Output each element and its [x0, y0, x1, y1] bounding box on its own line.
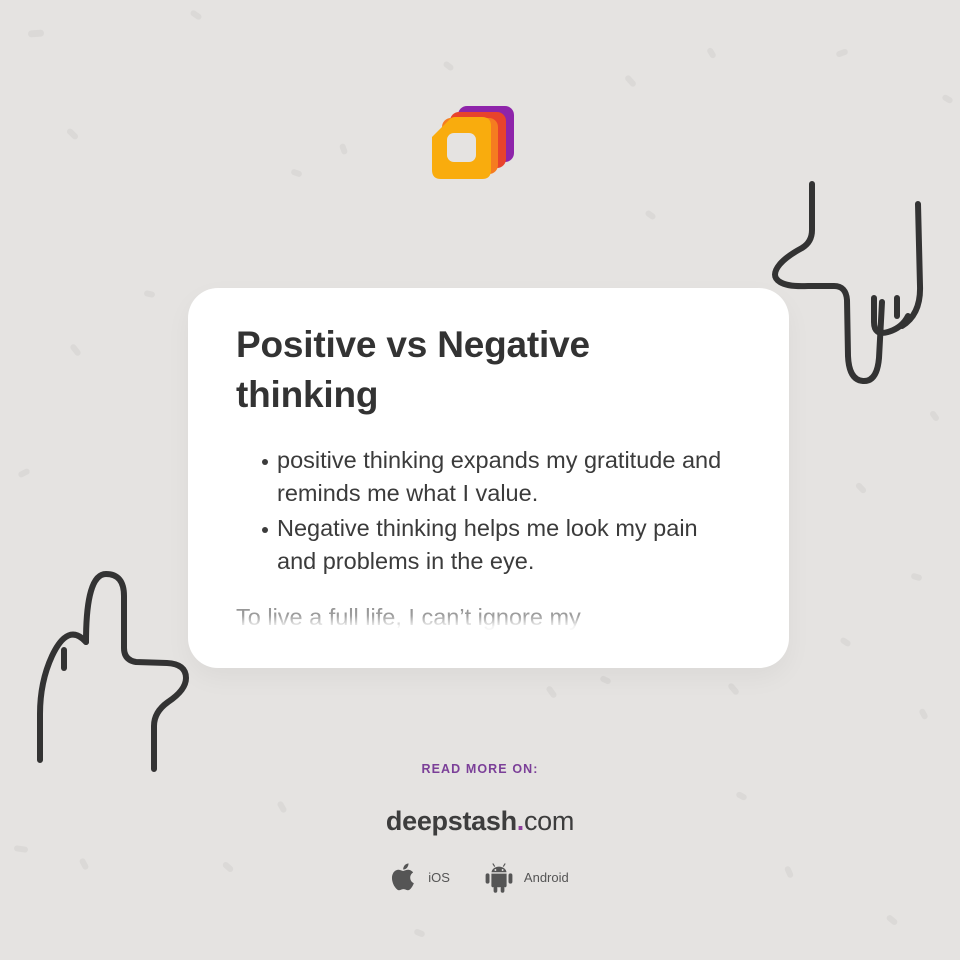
confetti-dash: [835, 48, 848, 58]
ios-store-badge[interactable]: iOS: [391, 861, 450, 893]
android-store-badge[interactable]: Android: [483, 861, 569, 893]
store-badges: iOS: [0, 861, 960, 893]
teaser-text: To live a full life, I can’t ignore my: [236, 601, 743, 634]
list-item: positive thinking expands my gratitude a…: [236, 444, 743, 510]
confetti-dash: [918, 708, 928, 721]
confetti-dash: [885, 914, 898, 926]
confetti-dash: [839, 636, 851, 647]
teaser-line-1: To live a full life, I can’t ignore my: [236, 604, 581, 630]
android-icon: [483, 861, 515, 893]
brand-tld: com: [524, 806, 574, 836]
confetti-dash: [413, 928, 425, 938]
brand-dot: .: [517, 806, 524, 836]
confetti-dash: [69, 343, 82, 357]
ios-label: iOS: [428, 870, 450, 885]
confetti-dash: [599, 675, 612, 685]
confetti-dash: [545, 685, 557, 699]
confetti-dash: [727, 682, 740, 696]
confetti-dash: [189, 9, 202, 21]
brand-name: deepstash: [386, 806, 517, 836]
confetti-dash: [855, 482, 868, 495]
deepstash-share-card: Positive vs Negative thinking positive t…: [0, 0, 960, 960]
confetti-dash: [17, 468, 30, 479]
brand-wordmark[interactable]: deepstash.com: [0, 806, 960, 837]
confetti-dash: [28, 29, 44, 37]
confetti-dash: [339, 143, 348, 155]
confetti-dash: [706, 47, 717, 60]
list-item: Negative thinking helps me look my pain …: [236, 512, 743, 578]
confetti-dash: [442, 60, 454, 72]
confetti-dash: [624, 74, 637, 88]
idea-card: Positive vs Negative thinking positive t…: [188, 288, 789, 668]
confetti-dash: [929, 410, 940, 422]
confetti-dash: [644, 209, 656, 220]
confetti-dash: [66, 127, 80, 140]
read-more-label: READ MORE ON:: [0, 762, 960, 776]
android-label: Android: [524, 870, 569, 885]
confetti-dash: [143, 290, 155, 298]
confetti-dash: [290, 168, 302, 177]
pointing-up-hand-doodle-left: [28, 564, 203, 779]
apple-icon: [391, 861, 419, 893]
confetti-dash: [941, 94, 954, 105]
confetti-dash: [910, 573, 922, 582]
idea-bullet-list: positive thinking expands my gratitude a…: [236, 444, 743, 578]
deepstash-logo: [430, 104, 516, 192]
footer: READ MORE ON: deepstash.com iOS: [0, 762, 960, 893]
page-title: Positive vs Negative thinking: [236, 320, 656, 420]
